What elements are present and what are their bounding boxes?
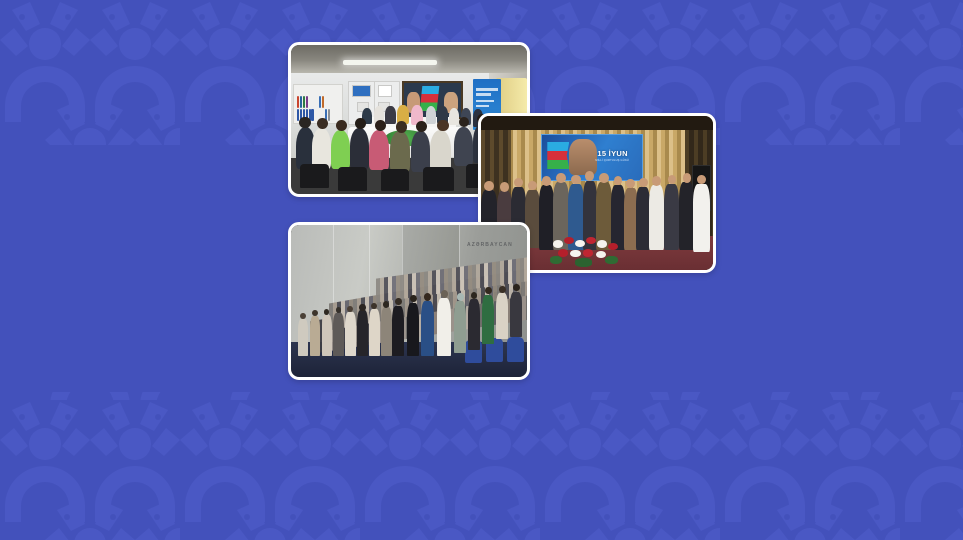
attendee [468, 299, 480, 349]
chair [338, 167, 366, 191]
wall-text-logo: AZƏRBAYCAN [467, 242, 513, 248]
attendee [454, 301, 466, 353]
attendee [430, 130, 451, 172]
attendee-head [312, 310, 318, 316]
attendee [421, 301, 434, 356]
group-member-head [697, 175, 706, 185]
ceiling-lamp [343, 60, 437, 65]
group-member-head [484, 181, 493, 191]
attendee-head [359, 304, 365, 311]
group-member-head [556, 173, 565, 183]
attendee [310, 316, 320, 356]
group-member-head [652, 176, 661, 186]
attendee [392, 306, 404, 356]
group-member-head [599, 173, 608, 183]
photo-auditorium[interactable]: AZƏRBAYCAN [288, 222, 530, 380]
attendee [312, 128, 331, 168]
chair [423, 167, 454, 191]
group-member [679, 182, 694, 250]
attendee [350, 128, 369, 168]
group-member-head [571, 175, 580, 185]
attendee [381, 307, 392, 356]
group-member [693, 184, 709, 252]
attendee [390, 131, 410, 171]
collage-stage: 15 İYUN MİLLİ QURTULUŞ GÜNÜ [0, 0, 963, 540]
attendee [496, 293, 508, 339]
attendee [369, 309, 380, 356]
group-member-head [683, 173, 692, 183]
group-member-head [542, 176, 551, 186]
stage-top-shadow [481, 116, 713, 130]
attendee [331, 130, 350, 169]
azerbaijan-flag-icon [547, 142, 569, 169]
group-member [649, 185, 664, 250]
group-member-head [500, 182, 509, 192]
attendee [510, 292, 522, 338]
group-member [664, 184, 679, 250]
attendee-head [317, 118, 328, 129]
chair [300, 164, 328, 188]
attendee-head [457, 293, 464, 300]
group-member-head [514, 178, 523, 188]
wall-poster-2 [378, 85, 392, 97]
attendee-head [437, 120, 448, 132]
attendee-head [300, 313, 306, 319]
attendee [454, 127, 473, 166]
attendee [333, 313, 343, 356]
attendee [369, 130, 389, 170]
attendee-head [336, 120, 347, 131]
attendee [411, 131, 430, 171]
banner-headline: 15 İYUN [597, 150, 637, 158]
seat [507, 337, 524, 362]
attendee-head [324, 309, 330, 315]
chair [381, 169, 409, 191]
wall-poster-1 [352, 85, 371, 97]
attendee [357, 310, 368, 356]
attendee [298, 319, 307, 355]
attendee-head [459, 117, 469, 128]
attendee [407, 303, 419, 356]
attendee [437, 298, 451, 356]
banner-portrait [569, 139, 597, 175]
attendee-head [499, 286, 506, 293]
attendee-head [396, 121, 407, 133]
attendee-head [395, 298, 402, 305]
attendee [482, 295, 494, 344]
group-member-head [639, 178, 647, 187]
attendee-head [416, 121, 427, 132]
attendee [322, 315, 332, 356]
banner-subline: MİLLİ QURTULUŞ GÜNÜ [595, 160, 637, 163]
attendee-head [485, 287, 492, 294]
group-member-head [528, 181, 537, 191]
attendee [345, 312, 355, 356]
attendee-head [410, 295, 417, 302]
flower-arrangement [548, 233, 627, 270]
attendee-head [355, 118, 366, 129]
photo-auditorium-content: AZƏRBAYCAN [291, 225, 527, 377]
attendee-head [375, 120, 386, 132]
